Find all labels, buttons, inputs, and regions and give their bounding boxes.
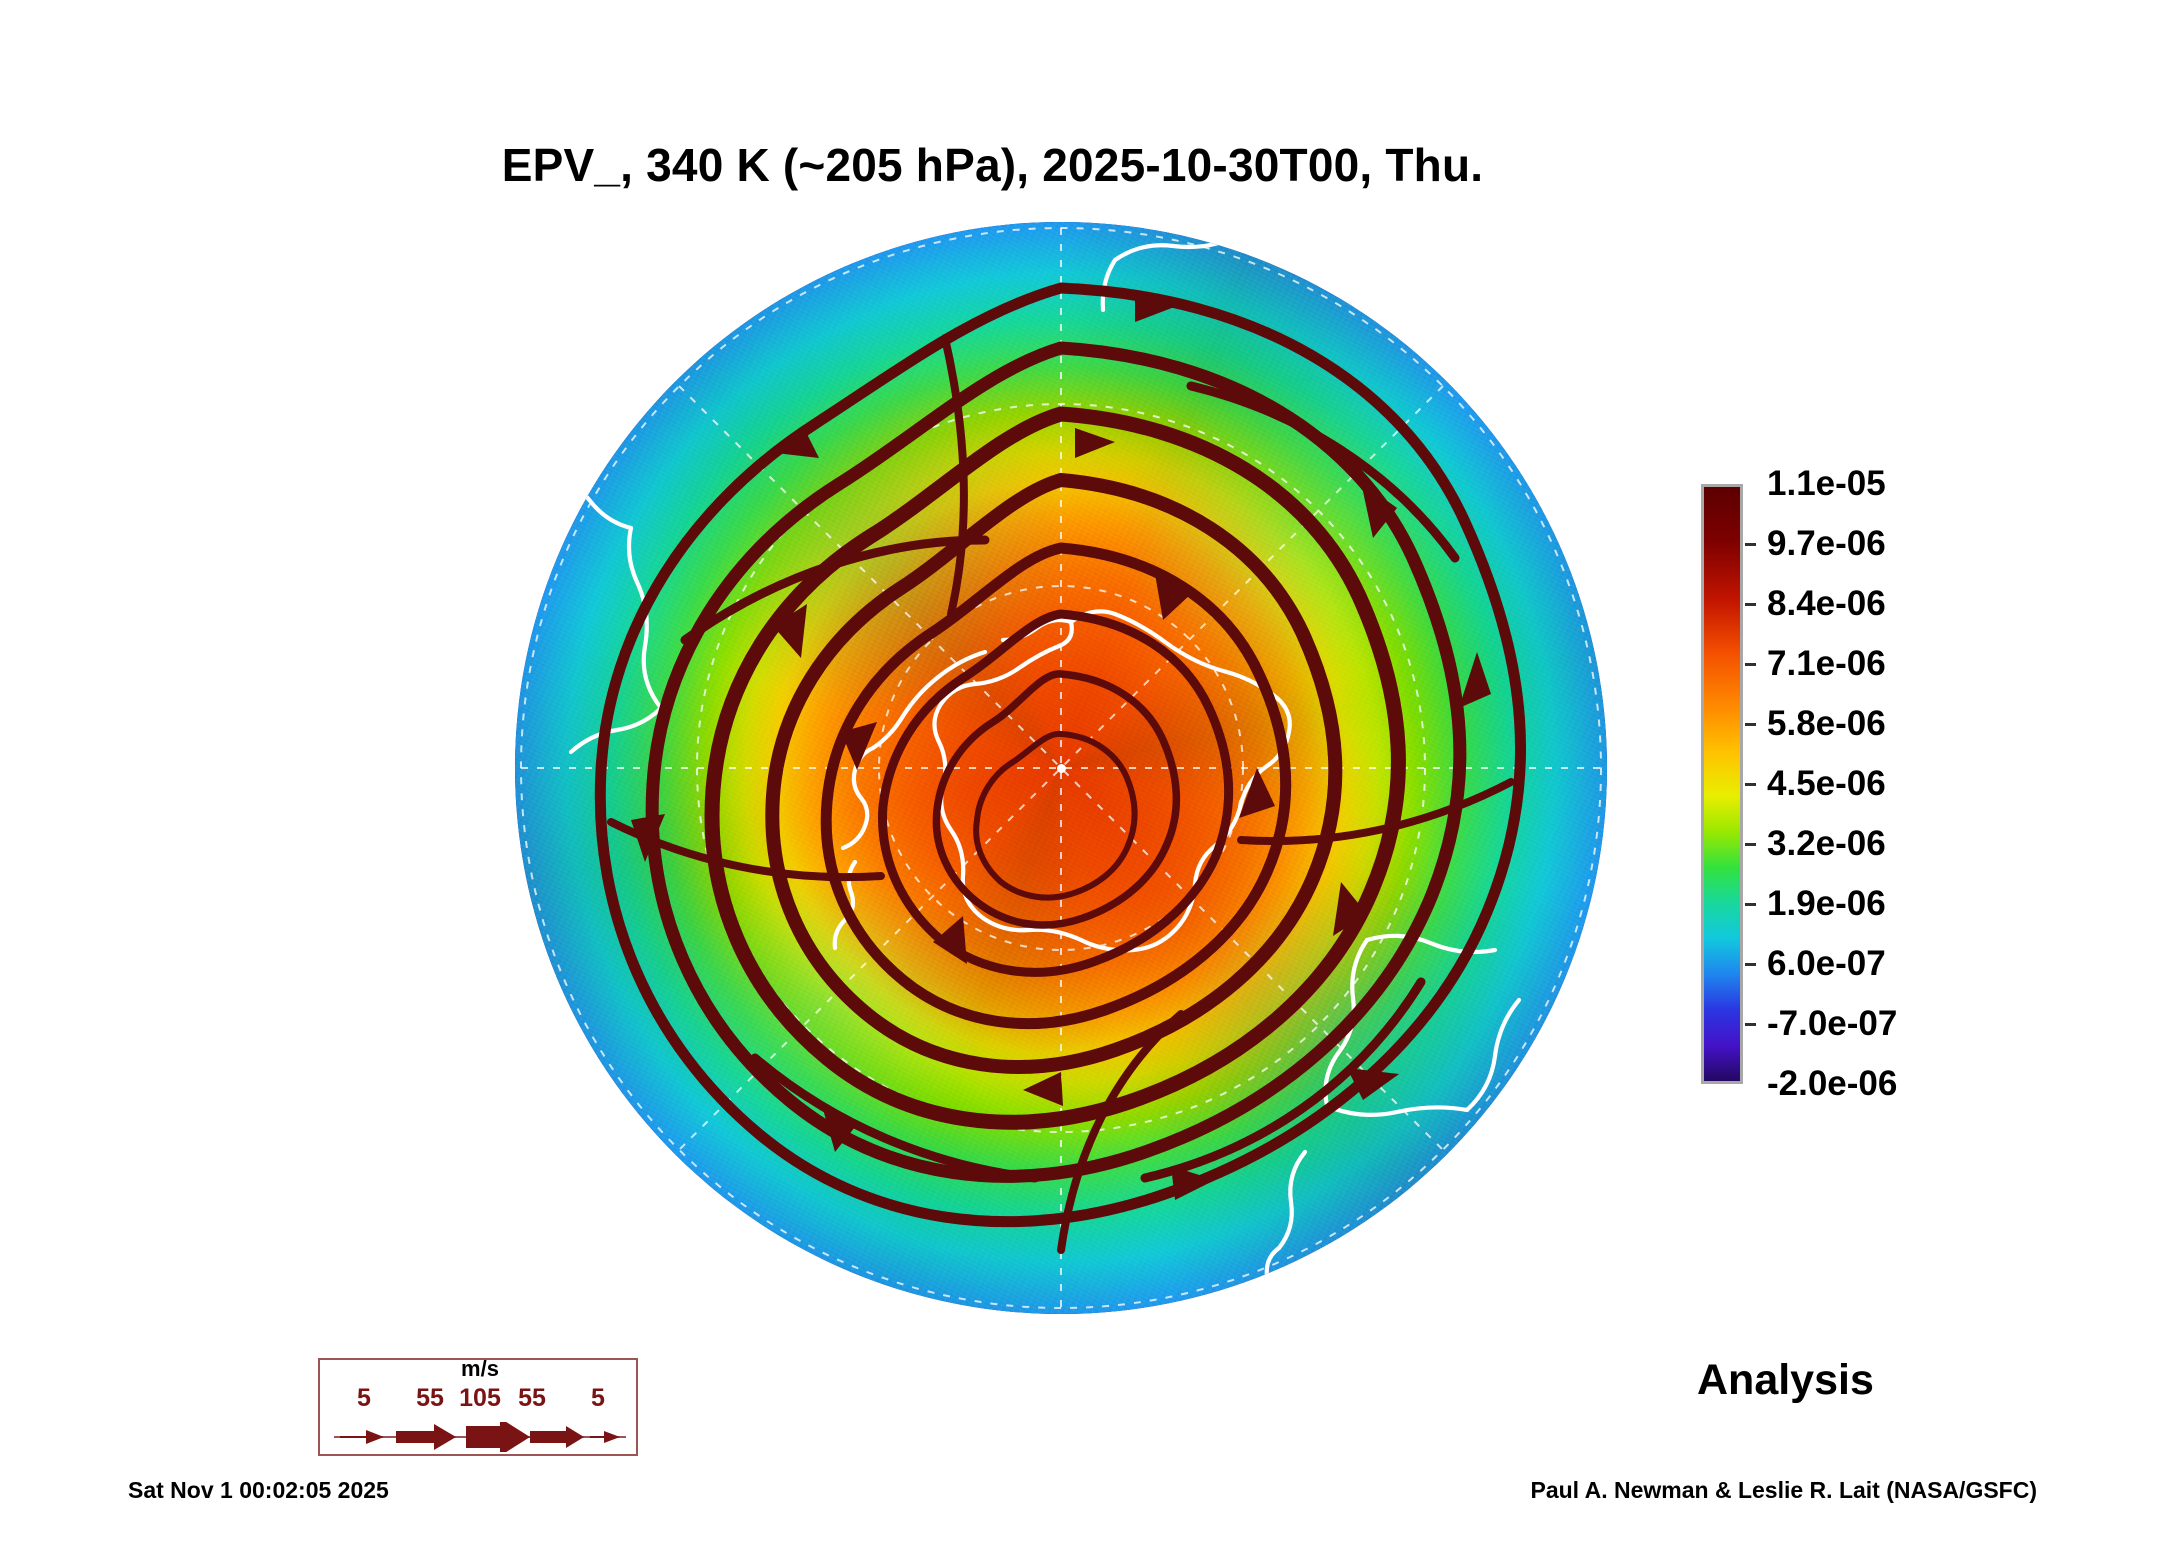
colorbar-tick [1745, 963, 1756, 966]
colorbar-tick [1745, 663, 1756, 666]
wind-legend-value: 5 [591, 1384, 605, 1413]
colorbar-tick-label: -2.0e-06 [1767, 1064, 1897, 1104]
colorbar-tick-label: -7.0e-07 [1767, 1004, 1897, 1044]
author-credit: Paul A. Newman & Leslie R. Lait (NASA/GS… [1530, 1477, 2037, 1504]
colorbar-tick-label: 3.2e-06 [1767, 824, 1886, 864]
wind-legend-value: 55 [416, 1384, 444, 1413]
colorbar: 1.1e-059.7e-068.4e-067.1e-065.8e-064.5e-… [1701, 484, 1951, 1084]
wind-legend-value: 105 [459, 1384, 501, 1413]
generation-timestamp: Sat Nov 1 00:02:05 2025 [128, 1477, 389, 1504]
map-disc [515, 222, 1607, 1314]
colorbar-tick [1745, 783, 1756, 786]
polar-map [515, 222, 1607, 1314]
wind-speed-legend: m/s 555105555 [318, 1358, 638, 1456]
wind-legend-arrows [334, 1422, 626, 1452]
colorbar-tick [1745, 903, 1756, 906]
colorbar-tick-label: 1.1e-05 [1767, 464, 1886, 504]
wind-legend-unit: m/s [320, 1356, 640, 1382]
colorbar-tick-label: 5.8e-06 [1767, 704, 1886, 744]
colorbar-tick-label: 6.0e-07 [1767, 944, 1886, 984]
wind-legend-values: 555105555 [320, 1384, 640, 1414]
colorbar-tick-label: 8.4e-06 [1767, 584, 1886, 624]
colorbar-tick-label: 1.9e-06 [1767, 884, 1886, 924]
wind-legend-value: 5 [357, 1384, 371, 1413]
page-title: EPV_, 340 K (~205 hPa), 2025-10-30T00, T… [0, 138, 2075, 192]
colorbar-tick-label: 9.7e-06 [1767, 524, 1886, 564]
colorbar-gradient [1701, 484, 1743, 1084]
colorbar-tick-label: 7.1e-06 [1767, 644, 1886, 684]
colorbar-tick [1745, 1023, 1756, 1026]
colorbar-tick [1745, 603, 1756, 606]
colorbar-tick [1745, 723, 1756, 726]
analysis-label: Analysis [1697, 1356, 1874, 1405]
south-pole-marker [1057, 764, 1066, 773]
wind-legend-value: 55 [518, 1384, 546, 1413]
colorbar-tick [1745, 843, 1756, 846]
colorbar-tick [1745, 543, 1756, 546]
colorbar-tick-label: 4.5e-06 [1767, 764, 1886, 804]
